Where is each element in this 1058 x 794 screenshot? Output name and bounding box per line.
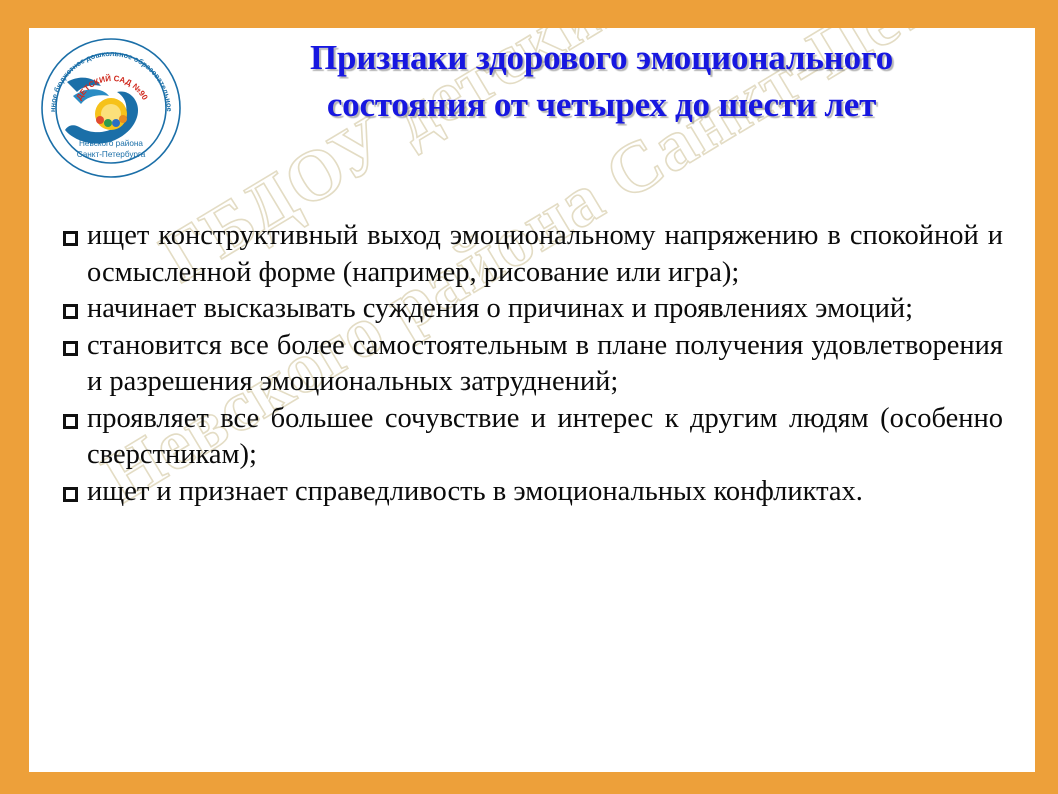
slide-content-area: ГБДОУ детский сад № 90 Невского района С… xyxy=(29,28,1035,772)
logo-child-3 xyxy=(112,119,120,127)
list-item-text: ищет конструктивный выход эмоциональному… xyxy=(87,218,1003,291)
logo-child-4 xyxy=(119,115,127,123)
logo-district-line: Невского района xyxy=(79,139,143,148)
list-item: становится все более самостоятельным в п… xyxy=(63,328,1003,401)
list-item: ищет конструктивный выход эмоциональному… xyxy=(63,218,1003,291)
square-bullet-icon xyxy=(63,329,87,365)
list-item: начинает высказывать суждения о причинах… xyxy=(63,291,1003,328)
list-item-text: становится все более самостоятельным в п… xyxy=(87,328,1003,401)
list-item-text: начинает высказывать суждения о причинах… xyxy=(87,291,1003,328)
logo-child-2 xyxy=(104,119,112,127)
logo-child-1 xyxy=(96,116,104,124)
list-item-text: ищет и признает справедливость в эмоцион… xyxy=(87,474,1003,511)
square-bullet-icon xyxy=(63,402,87,438)
slide-title: Признаки здорового эмоционального состоя… xyxy=(189,34,1014,128)
square-bullet-icon xyxy=(63,292,87,328)
logo-city-line: Санкт-Петербурга xyxy=(77,150,146,159)
square-bullet-icon xyxy=(63,219,87,255)
slide: ГБДОУ детский сад № 90 Невского района С… xyxy=(0,0,1058,794)
organization-logo: Государственное бюджетное дошкольное обр… xyxy=(37,34,185,182)
list-item: проявляет все большее сочувствие и интер… xyxy=(63,401,1003,474)
title-line-1: Признаки здорового эмоционального xyxy=(189,34,1014,81)
square-bullet-icon xyxy=(63,475,87,511)
bullet-list: ищет конструктивный выход эмоциональному… xyxy=(63,218,1003,510)
list-item-text: проявляет все большее сочувствие и интер… xyxy=(87,401,1003,474)
list-item: ищет и признает справедливость в эмоцион… xyxy=(63,474,1003,511)
title-line-2: состояния от четырех до шести лет xyxy=(189,81,1014,128)
